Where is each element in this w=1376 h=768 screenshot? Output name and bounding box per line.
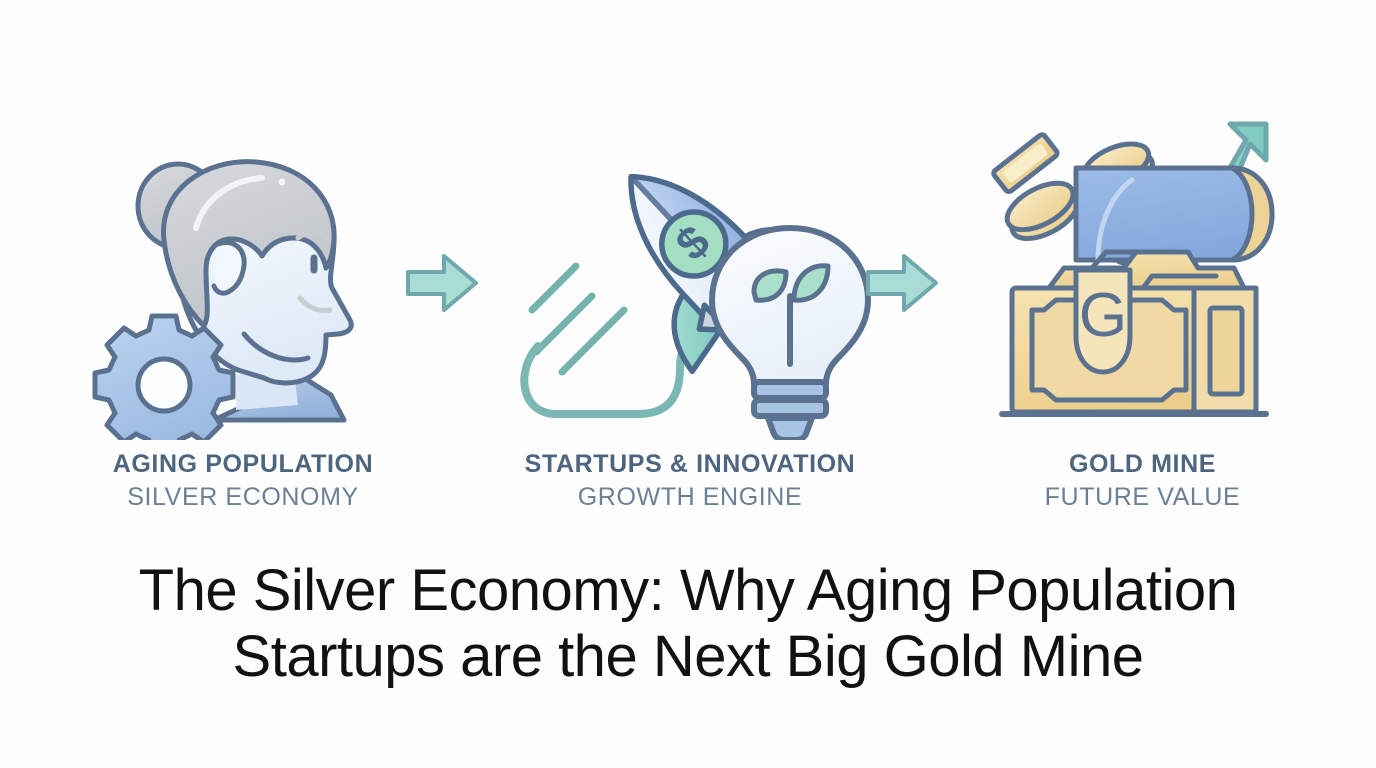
speed-line-2 bbox=[536, 296, 592, 352]
lock-letter-glyph: G bbox=[1079, 281, 1127, 350]
elderly-woman-with-gear-icon bbox=[86, 120, 406, 440]
gear-icon bbox=[95, 316, 233, 440]
label-title-aging-population: AGING POPULATION bbox=[43, 448, 443, 480]
stage-icon-startups-innovation: $ bbox=[506, 120, 886, 440]
rocket-and-lightbulb-icon: $ bbox=[506, 120, 886, 440]
stage-labels: AGING POPULATION SILVER ECONOMY STARTUPS… bbox=[0, 448, 1376, 540]
bulb-base-tip bbox=[768, 418, 812, 440]
label-title-startups-innovation: STARTUPS & INNOVATION bbox=[495, 448, 885, 480]
flow-arrow-right-icon bbox=[402, 248, 482, 318]
bulb-base-1 bbox=[754, 382, 826, 398]
page-title: The Silver Economy: Why Aging Population… bbox=[0, 558, 1376, 690]
page-title-line-2: Startups are the Next Big Gold Mine bbox=[0, 624, 1376, 690]
stage-icon-aging-population bbox=[86, 120, 406, 440]
page-title-line-1: The Silver Economy: Why Aging Population bbox=[0, 558, 1376, 624]
chest-right-inset bbox=[1210, 308, 1242, 394]
arrow-shape bbox=[408, 256, 476, 310]
icon-row: $ bbox=[0, 120, 1376, 440]
speed-lines bbox=[532, 266, 624, 372]
treasure-chest-icon: G bbox=[980, 120, 1300, 440]
infographic-canvas: $ bbox=[0, 0, 1376, 768]
hair-dot bbox=[279, 179, 286, 186]
label-subtitle-gold-mine: FUTURE VALUE bbox=[1000, 480, 1285, 514]
label-block-aging-population: AGING POPULATION SILVER ECONOMY bbox=[43, 448, 443, 514]
label-block-gold-mine: GOLD MINE FUTURE VALUE bbox=[1000, 448, 1285, 514]
bulb-base-2 bbox=[754, 400, 826, 416]
lightbulb-icon bbox=[712, 228, 868, 440]
stage-icon-gold-mine: G bbox=[980, 120, 1300, 440]
speed-line-1 bbox=[532, 266, 576, 310]
label-block-startups-innovation: STARTUPS & INNOVATION GROWTH ENGINE bbox=[495, 448, 885, 514]
label-title-gold-mine: GOLD MINE bbox=[1000, 448, 1285, 480]
gear-hole bbox=[138, 359, 190, 411]
flow-arrow-2 bbox=[862, 248, 942, 323]
arrow-shape bbox=[868, 256, 936, 310]
label-subtitle-startups-innovation: GROWTH ENGINE bbox=[495, 480, 885, 514]
flow-arrow-1 bbox=[402, 248, 482, 323]
label-subtitle-aging-population: SILVER ECONOMY bbox=[43, 480, 443, 514]
flow-arrow-right-icon bbox=[862, 248, 942, 318]
